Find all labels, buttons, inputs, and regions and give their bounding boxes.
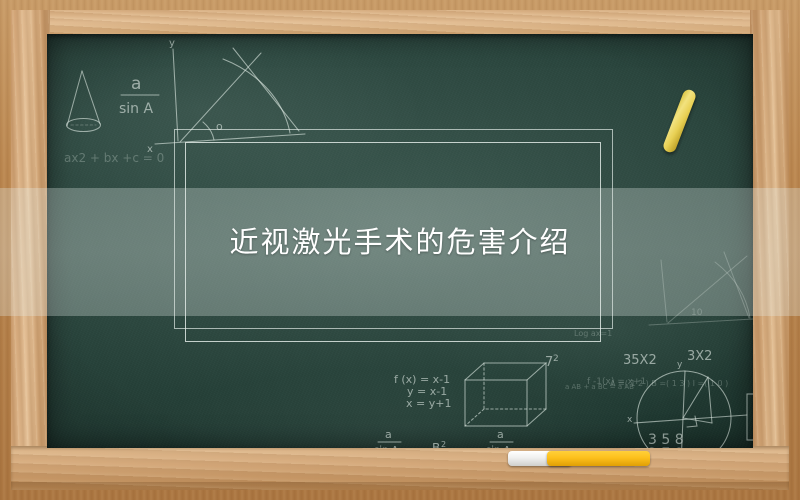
- chalk-exponent: 7: [545, 355, 553, 370]
- svg-text:2: 2: [441, 440, 446, 448]
- circle-diagram: y x: [627, 360, 747, 448]
- frame-rail-right: [750, 10, 789, 490]
- chalk-ratio-numerator: a: [131, 74, 141, 94]
- svg-text:x: x: [147, 144, 153, 155]
- svg-text:10: 10: [691, 308, 703, 318]
- addition-column: 3 5 8 2 7 9 6 3 7: [645, 432, 693, 448]
- svg-text:o: o: [216, 120, 223, 133]
- svg-text:B: B: [432, 441, 440, 448]
- svg-text:a: a: [385, 428, 392, 441]
- orange-chalk-stick: [547, 451, 650, 466]
- svg-text:sin A: sin A: [486, 445, 511, 448]
- svg-text:3 5 8: 3 5 8: [648, 432, 684, 448]
- board-vignette: [47, 34, 753, 448]
- decorative-frame-inner: [185, 142, 601, 342]
- chalk-drawings: a sin A ax2 + bx +c = 0 y x o f (x) = x-…: [47, 34, 753, 448]
- angle-diagram-right: 10: [649, 252, 753, 325]
- svg-text:x = y+1: x = y+1: [406, 397, 451, 410]
- blackboard-scene: a sin A ax2 + bx +c = 0 y x o f (x) = x-…: [0, 0, 800, 500]
- svg-text:y: y: [169, 38, 175, 49]
- svg-text:a: a: [497, 428, 504, 441]
- chalk-tray-lip: [11, 482, 789, 490]
- cone-drawing: [67, 71, 101, 132]
- chalk-log-label: Log ax=1: [574, 329, 612, 338]
- tray-items: [0, 450, 800, 466]
- chalk-inverse-fn: f -1(x) = x+1: [587, 377, 646, 387]
- chalk-quadratic: ax2 + bx +c = 0: [64, 151, 164, 165]
- chalk-drawings-secondary: [47, 34, 753, 448]
- chalk-matrices: A =( 1 2 ) B =( 1 3 ) I =( 1 0 ): [610, 379, 728, 388]
- svg-text:f (x) = x-1: f (x) = x-1: [394, 373, 450, 386]
- svg-text:sin A: sin A: [374, 445, 399, 448]
- frame-rail-left: [11, 10, 50, 490]
- chalk-exponent-sup: 2: [553, 354, 559, 364]
- chalk-ratio-denominator: sin A: [119, 101, 154, 117]
- decorative-frame-outer: [174, 129, 613, 329]
- svg-text:y: y: [677, 360, 683, 370]
- frame-rail-top: [11, 10, 789, 37]
- chalk-tiny-equation: a AB + a BC = a AB: [565, 383, 634, 391]
- svg-text:2 7 9: 2 7 9: [648, 446, 684, 448]
- chalk-mult-a: 35X2: [623, 353, 657, 368]
- board-texture: [47, 34, 753, 448]
- svg-text:x: x: [627, 415, 633, 425]
- chalk-mult-b: 3X2: [687, 349, 712, 364]
- angle-diagram-left: y x o: [147, 38, 305, 155]
- chalkboard-surface: a sin A ax2 + bx +c = 0 y x o f (x) = x-…: [47, 34, 753, 448]
- cube-drawing-left: [465, 363, 546, 426]
- cube-drawing-right: [747, 394, 753, 440]
- svg-text:y = x-1: y = x-1: [407, 385, 447, 398]
- function-equations: f (x) = x-1 y = x-1 x = y+1: [394, 373, 451, 410]
- chalk-dust-overlay: [47, 34, 753, 448]
